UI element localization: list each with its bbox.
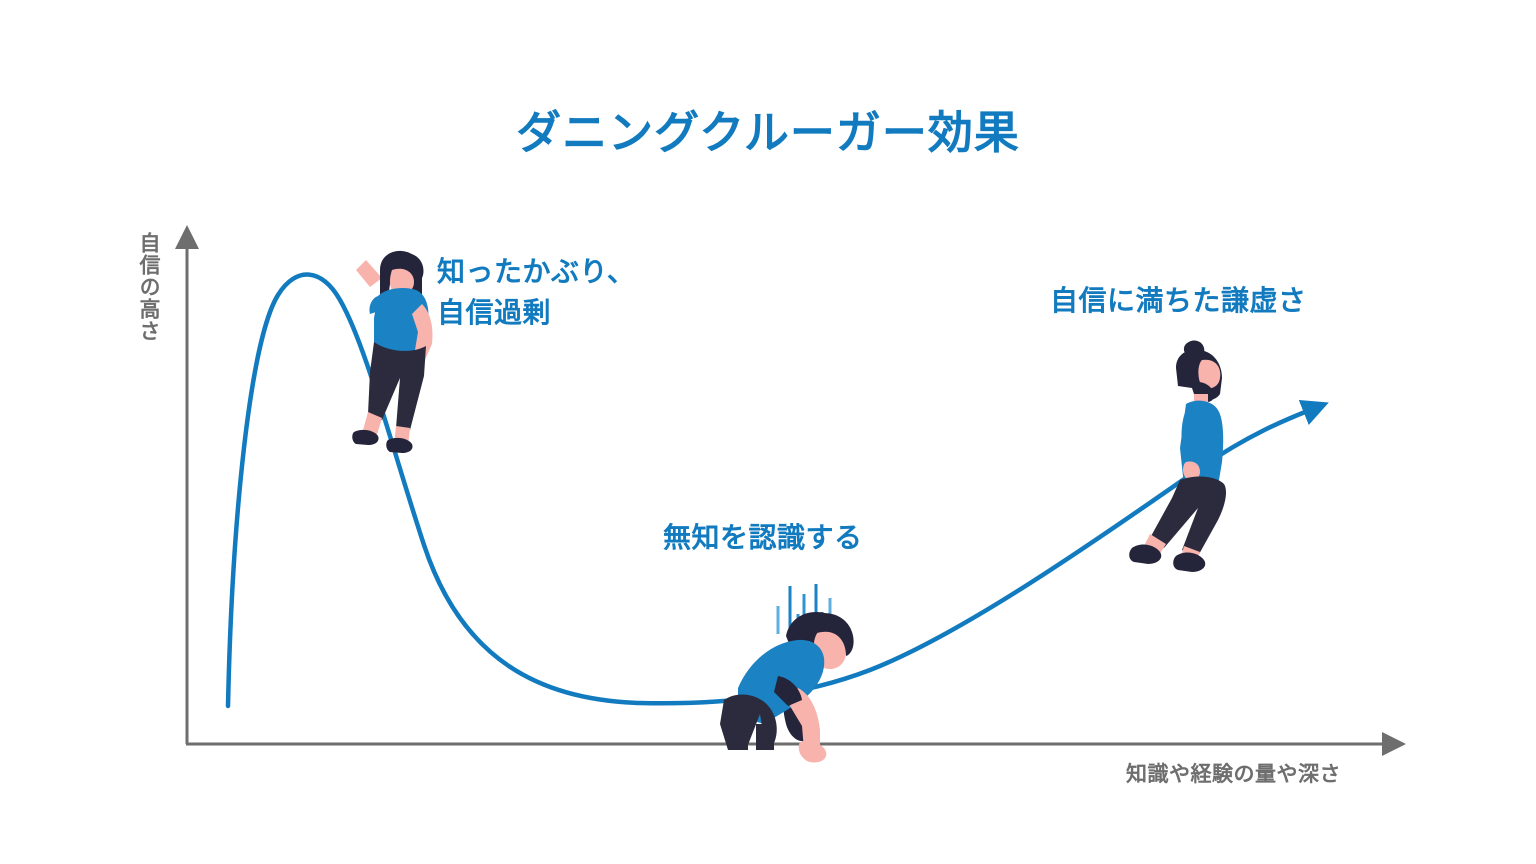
figure2-leg-right <box>756 724 774 750</box>
figure2-leg-left <box>728 724 748 750</box>
figure1-back-arm <box>356 260 382 287</box>
figure3-shoe-front <box>1173 553 1205 572</box>
figure-confident-walker <box>1129 341 1226 572</box>
dunning-kruger-infographic: ダニングクルーガー効果 自信の高さ 知識や経験の量や深さ 知ったかぶり、 自信過… <box>0 0 1536 864</box>
figure-despair-slumped <box>720 584 854 762</box>
chart-canvas <box>0 0 1536 864</box>
